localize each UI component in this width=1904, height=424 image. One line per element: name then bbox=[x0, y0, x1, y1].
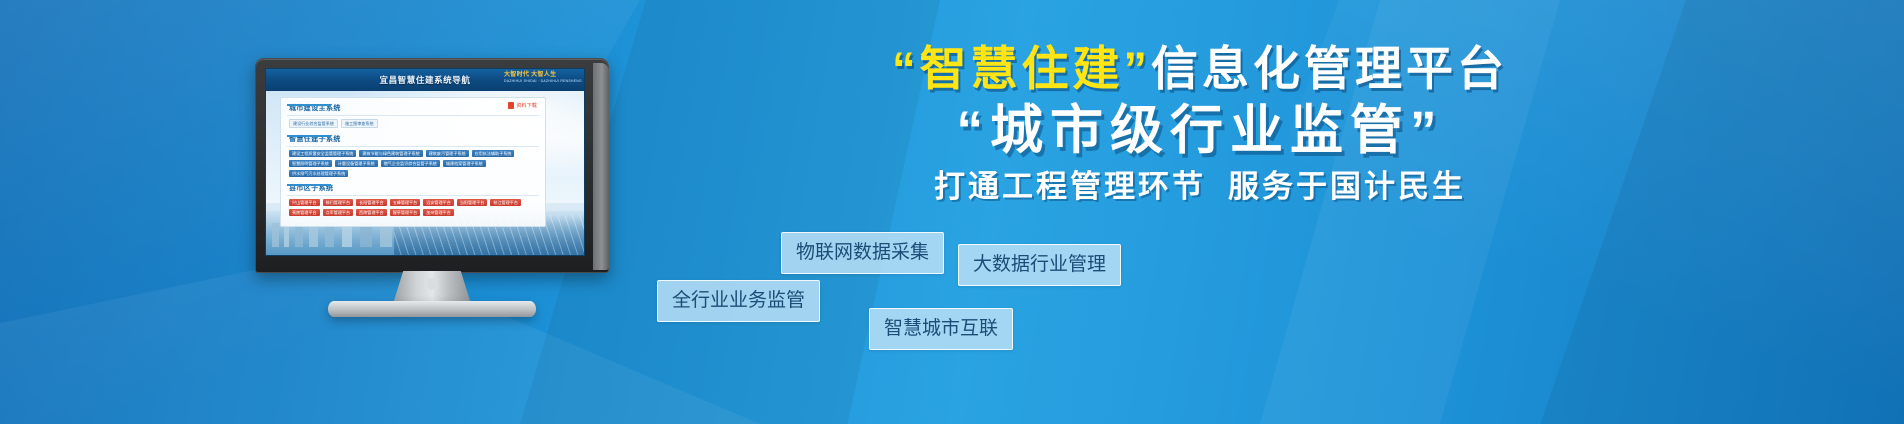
monitor-mockup: 宜昌智慧住建系统导航 大智时代 大智人生 DAZHIHUI SHIDAI · D… bbox=[255, 58, 609, 303]
screen-chip[interactable]: 应用执法辅助子系统 bbox=[472, 150, 515, 157]
headline-line-1: “智慧住建”信息化管理平台 bbox=[640, 40, 1760, 98]
download-label: 资料下载 bbox=[516, 102, 537, 109]
screen-chip[interactable]: 智慧照明管理子系统 bbox=[289, 160, 332, 167]
screen-chip[interactable]: 供水排气污水处理管理子系统 bbox=[289, 170, 348, 177]
monitor-bezel-side bbox=[593, 63, 609, 270]
screen-chip[interactable]: 秭归管理平台 bbox=[323, 199, 354, 206]
screen-chip[interactable]: 建设工程质量安全监管管理子系统 bbox=[289, 150, 356, 157]
monitor-stand-base bbox=[328, 301, 536, 317]
monitor-bezel: 宜昌智慧住建系统导航 大智时代 大智人生 DAZHIHUI SHIDAI · D… bbox=[255, 58, 609, 273]
screen-chip[interactable]: 计量设备管理子系统 bbox=[335, 160, 378, 167]
screen-chip[interactable]: 建筑节能与绿色建筑管理子系统 bbox=[359, 150, 422, 157]
screen-body: 城市建设主系统 资料下载 建设行业综合监管系统 施工图审查系统 bbox=[266, 91, 584, 256]
screen-chip[interactable]: 建筑废污管理子系统 bbox=[426, 150, 469, 157]
screen-chip[interactable]: 燃气企业监识综合监管子系统 bbox=[381, 160, 440, 167]
screen-chip[interactable]: 建设行业综合监管系统 bbox=[289, 119, 338, 128]
screen-chip[interactable]: 猩亭管理平台 bbox=[390, 209, 421, 216]
screen-logo-sub: DAZHIHUI SHIDAI · DAZHIHUI RENSHENG bbox=[504, 79, 578, 84]
screen-chip[interactable]: 远安管理平台 bbox=[423, 199, 454, 206]
headline-block: “智慧住建”信息化管理平台 “城市级行业监管” 打通工程管理环节服务于国计民生 bbox=[640, 40, 1760, 210]
screen-chip[interactable]: 枝江管理平台 bbox=[490, 199, 521, 206]
monitor-screen: 宜昌智慧住建系统导航 大智时代 大智人生 DAZHIHUI SHIDAI · D… bbox=[265, 68, 585, 256]
screen-section-title: 县市区子系统 bbox=[287, 182, 539, 196]
screen-section-smart-housing: 智慧住建子系统 建设工程质量安全监管管理子系统 建筑节能与绿色建筑管理子系统 建… bbox=[287, 133, 539, 179]
headline-line-3-part-b: 服务于国计民生 bbox=[1228, 169, 1466, 204]
feature-tag-smart-city-interconnect[interactable]: 智慧城市互联 bbox=[869, 308, 1013, 350]
screen-chip[interactable]: 兴山管理平台 bbox=[289, 199, 320, 206]
headline-line-1-highlight: “智慧住建” bbox=[892, 42, 1151, 95]
screen-section-county-system: 县市区子系统 兴山管理平台 秭归管理平台 长阳管理平台 五峰管理平台 远安管理平… bbox=[287, 182, 539, 218]
headline-line-3: 打通工程管理环节服务于国计民生 bbox=[640, 164, 1760, 210]
screen-nav-panel: 城市建设主系统 资料下载 建设行业综合监管系统 施工图审查系统 bbox=[280, 97, 546, 227]
screen-chip-group: 建设工程质量安全监管管理子系统 建筑节能与绿色建筑管理子系统 建筑废污管理子系统… bbox=[287, 147, 539, 179]
download-icon bbox=[508, 102, 514, 109]
screen-chip[interactable]: 当阳管理平台 bbox=[457, 199, 488, 206]
headline-line-3-part-a: 打通工程管理环节 bbox=[934, 169, 1206, 204]
screen-chip[interactable]: 点军管理平台 bbox=[323, 209, 354, 216]
feature-tag-all-industry-supervision[interactable]: 全行业业务监管 bbox=[657, 280, 820, 322]
screen-chip-group: 兴山管理平台 秭归管理平台 长阳管理平台 五峰管理平台 远安管理平台 当阳管理平… bbox=[287, 196, 539, 218]
screen-chip[interactable]: 加州管理平台 bbox=[423, 209, 454, 216]
headline-line-2: “城市级行业监管” bbox=[640, 98, 1760, 164]
screen-chip[interactable]: 西陵管理平台 bbox=[356, 209, 387, 216]
screen-chip[interactable]: 夷陵管理平台 bbox=[289, 209, 320, 216]
screen-chip[interactable]: 五峰管理平台 bbox=[390, 199, 421, 206]
screen-header-bar: 宜昌智慧住建系统导航 大智时代 大智人生 DAZHIHUI SHIDAI · D… bbox=[266, 69, 584, 91]
screen-section-title: 城市建设主系统 bbox=[287, 102, 539, 116]
screen-section-title: 智慧住建子系统 bbox=[287, 133, 539, 147]
screen-chip-group: 建设行业综合监管系统 施工图审查系统 bbox=[287, 116, 539, 130]
screen-chip[interactable]: 施工图审查系统 bbox=[341, 119, 378, 128]
feature-tag-iot-data-collection[interactable]: 物联网数据采集 bbox=[781, 232, 944, 274]
headline-line-1-rest: 信息化管理平台 bbox=[1151, 42, 1508, 95]
feature-tag-bigdata-industry-management[interactable]: 大数据行业管理 bbox=[958, 244, 1121, 286]
feature-tag-group: 物联网数据采集 大数据行业管理 全行业业务监管 智慧城市互联 bbox=[640, 232, 1760, 392]
promo-banner: 宜昌智慧住建系统导航 大智时代 大智人生 DAZHIHUI SHIDAI · D… bbox=[0, 0, 1904, 424]
apple-logo-icon bbox=[426, 274, 440, 290]
screen-logo: 大智时代 大智人生 DAZHIHUI SHIDAI · DAZHIHUI REN… bbox=[504, 72, 578, 88]
screen-chip[interactable]: 长阳管理平台 bbox=[356, 199, 387, 206]
screen-chip[interactable]: 城建档案管理子系统 bbox=[443, 160, 486, 167]
screen-logo-main: 大智时代 大智人生 bbox=[504, 72, 578, 79]
screen-section-main-system: 城市建设主系统 资料下载 建设行业综合监管系统 施工图审查系统 bbox=[287, 102, 539, 130]
screen-download-button[interactable]: 资料下载 bbox=[508, 102, 537, 109]
